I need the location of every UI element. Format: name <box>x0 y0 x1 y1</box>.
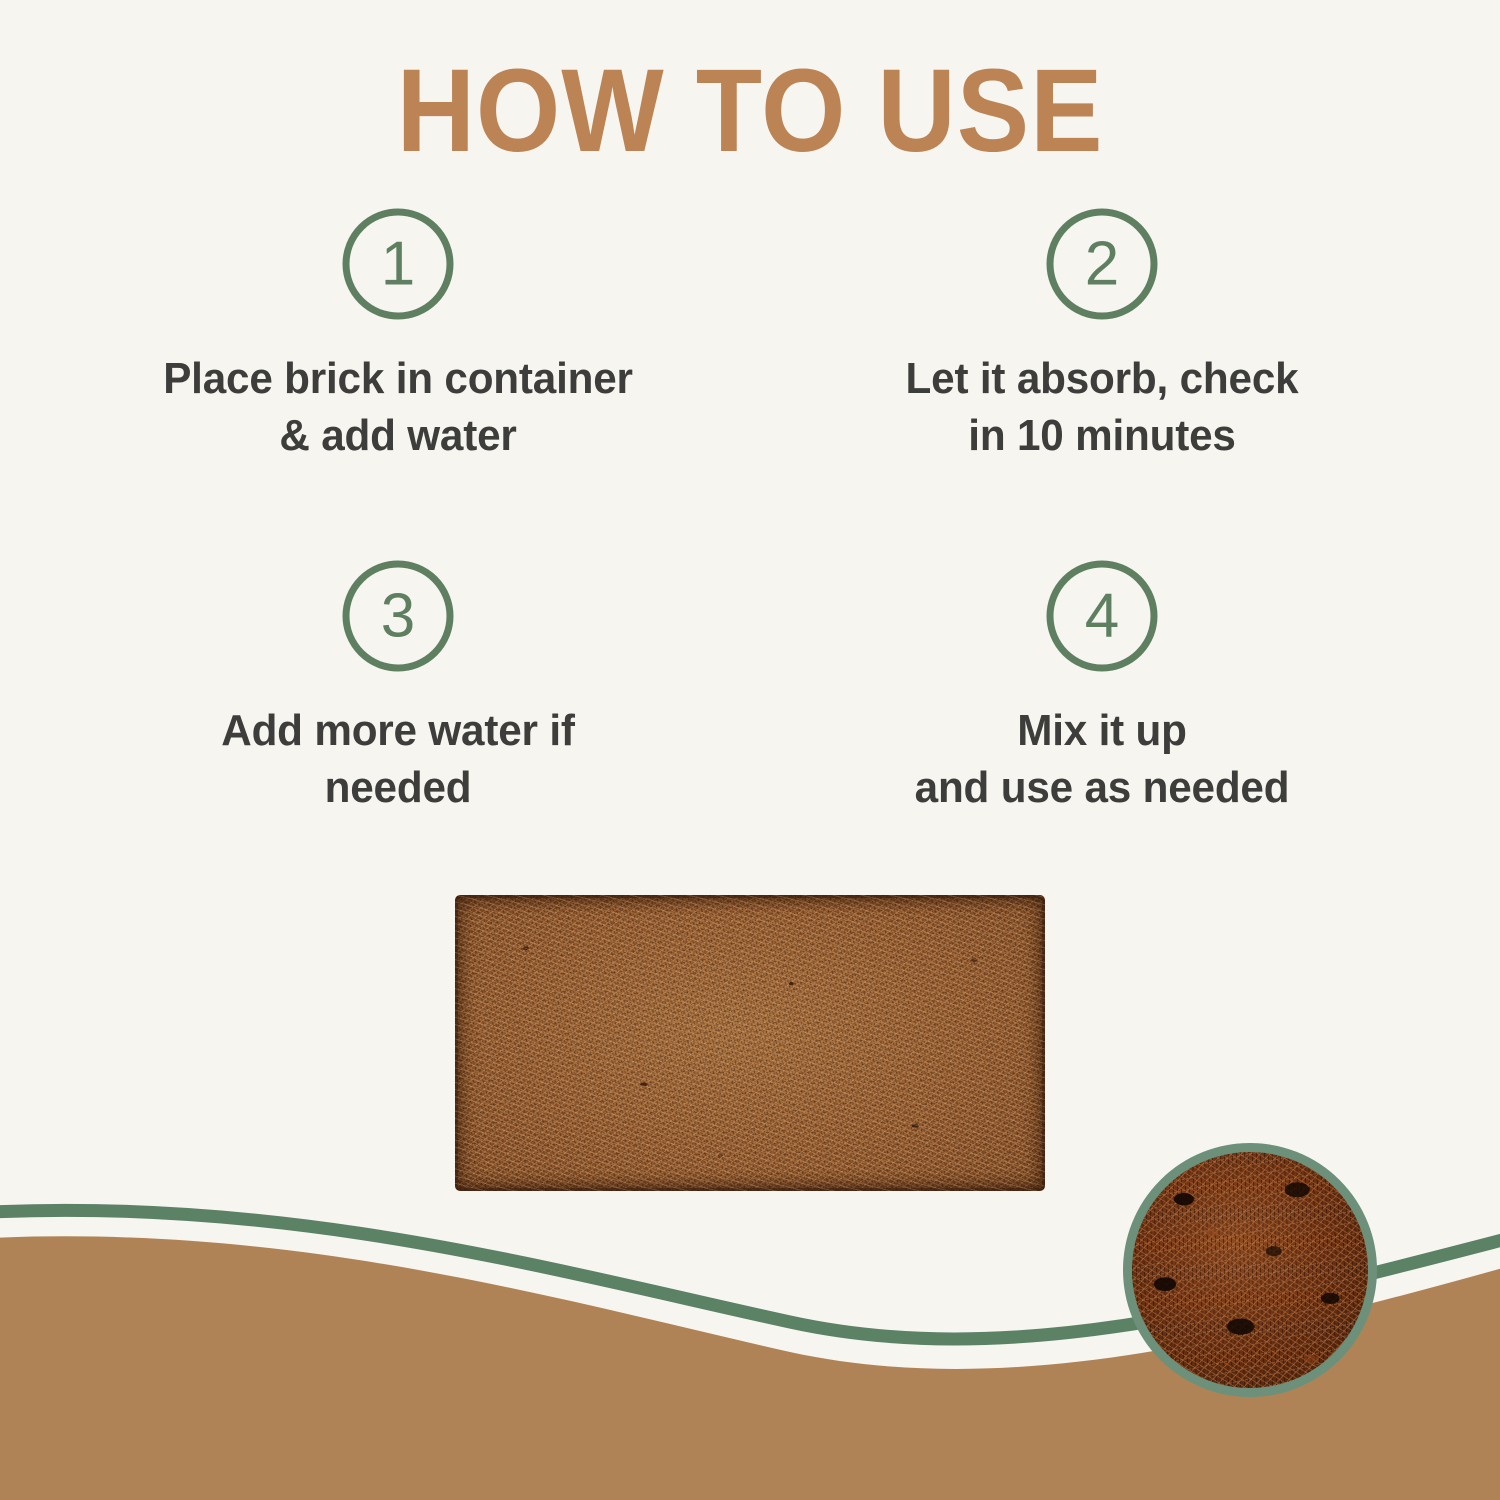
step-3-caption: Add more water if needed <box>62 702 734 816</box>
step-2: 2 Let it absorb, check in 10 minutes <box>752 206 1452 464</box>
step-3: 3 Add more water if needed <box>48 558 748 816</box>
coco-coir-brick-image <box>455 895 1045 1191</box>
page-title: HOW TO USE <box>60 52 1440 170</box>
step-2-number-badge: 2 <box>1044 206 1160 322</box>
how-to-use-infographic: HOW TO USE 1 Place brick in container & … <box>0 0 1500 1500</box>
step-1-caption: Place brick in container & add water <box>62 350 734 464</box>
svg-text:1: 1 <box>381 230 415 299</box>
step-4-caption: Mix it up and use as needed <box>766 702 1438 816</box>
step-4-number-badge: 4 <box>1044 558 1160 674</box>
step-4: 4 Mix it up and use as needed <box>752 558 1452 816</box>
loose-coir-circle-inset <box>1123 1143 1377 1397</box>
steps-grid: 1 Place brick in container & add water 2… <box>0 206 1500 866</box>
step-1: 1 Place brick in container & add water <box>48 206 748 464</box>
svg-text:3: 3 <box>381 582 415 651</box>
step-1-number-badge: 1 <box>340 206 456 322</box>
svg-text:2: 2 <box>1085 230 1119 299</box>
svg-text:4: 4 <box>1085 582 1119 651</box>
step-3-number-badge: 3 <box>340 558 456 674</box>
step-2-caption: Let it absorb, check in 10 minutes <box>766 350 1438 464</box>
